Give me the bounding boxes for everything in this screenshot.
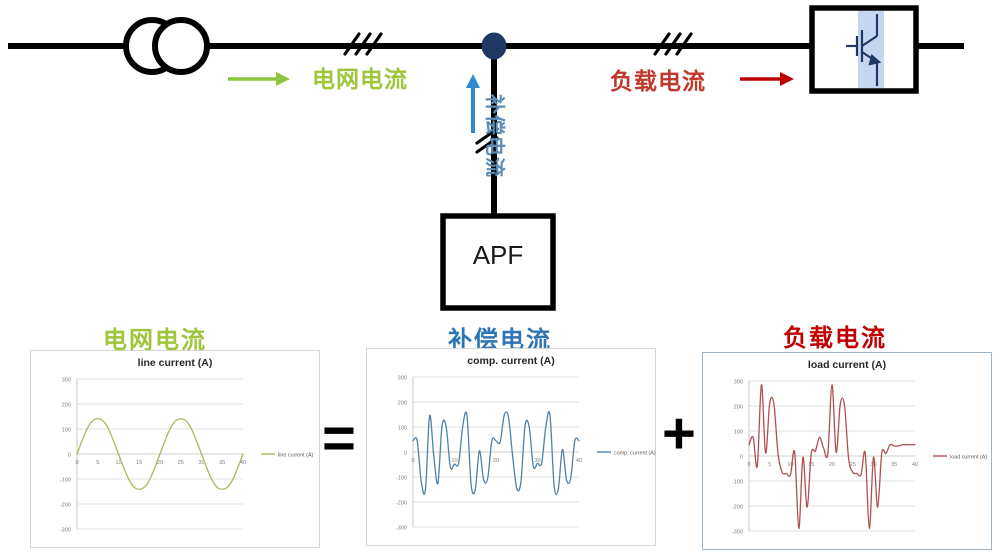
svg-text:0: 0	[404, 451, 407, 457]
ct-marks-load-icon	[655, 34, 691, 54]
svg-text:0: 0	[411, 458, 414, 464]
svg-text:5: 5	[768, 462, 771, 468]
svg-text:200: 200	[398, 401, 407, 407]
svg-text:-300: -300	[60, 528, 71, 534]
svg-text:10: 10	[451, 458, 457, 464]
svg-text:300: 300	[734, 380, 743, 386]
svg-text:line current (A): line current (A)	[278, 452, 314, 458]
svg-text:-100: -100	[60, 478, 71, 484]
equals-operator: =	[322, 410, 356, 468]
transformer-symbol	[126, 20, 207, 72]
svg-text:0: 0	[740, 455, 743, 461]
svg-text:300: 300	[398, 376, 407, 382]
plus-operator: +	[662, 405, 696, 463]
slide-canvas: 电网电流 负载电流 补偿电流 APF 电网电流 补偿电流 负载电流 line c…	[0, 0, 1000, 552]
svg-text:load current (A): load current (A)	[950, 454, 987, 460]
apf-block-label: APF	[443, 240, 553, 271]
line-current-label: 电网电流	[312, 60, 408, 94]
chart-title-comp: comp. current (A)	[367, 355, 655, 367]
svg-text:-300: -300	[396, 526, 407, 532]
comp-current-arrow-icon	[466, 74, 480, 133]
svg-text:200: 200	[734, 405, 743, 411]
svg-text:20: 20	[829, 462, 835, 468]
svg-text:200: 200	[62, 403, 71, 409]
svg-text:-300: -300	[732, 530, 743, 536]
load-current-arrow-icon	[740, 72, 794, 86]
svg-text:5: 5	[96, 460, 99, 466]
svg-text:-100: -100	[732, 480, 743, 486]
svg-text:0: 0	[747, 462, 750, 468]
svg-text:20: 20	[493, 458, 499, 464]
svg-text:-200: -200	[396, 501, 407, 507]
svg-text:0: 0	[75, 460, 78, 466]
junction-node-icon	[482, 33, 506, 59]
line-current-arrow-icon	[228, 72, 290, 86]
chart-panel-load-current: load current (A) 3002001000-100-200-3000…	[702, 352, 992, 550]
svg-text:comp. current (A): comp. current (A)	[614, 450, 656, 456]
chart-title-line: line current (A)	[31, 357, 319, 369]
chart-plot-comp: 3002001000-100-200-300010203040comp. cur…	[367, 367, 657, 543]
chart-plot-load: 3002001000-100-200-3000510152025303540lo…	[703, 371, 993, 547]
load-current-label: 负载电流	[610, 62, 706, 96]
chart-panel-comp-current: comp. current (A) 3002001000-100-200-300…	[366, 348, 656, 546]
chart-plot-line: 3002001000-100-200-3000510152025303540li…	[31, 369, 321, 545]
comp-current-label: 补偿电流	[482, 94, 511, 178]
svg-text:40: 40	[576, 458, 582, 464]
svg-text:100: 100	[62, 428, 71, 434]
svg-text:35: 35	[891, 462, 897, 468]
svg-text:25: 25	[178, 460, 184, 466]
chart-title-load: load current (A)	[703, 359, 991, 371]
svg-text:300: 300	[62, 378, 71, 384]
svg-text:-100: -100	[396, 476, 407, 482]
svg-text:100: 100	[398, 426, 407, 432]
svg-text:40: 40	[912, 462, 918, 468]
svg-text:0: 0	[68, 453, 71, 459]
svg-text:100: 100	[734, 430, 743, 436]
svg-text:35: 35	[219, 460, 225, 466]
svg-text:15: 15	[136, 460, 142, 466]
svg-text:-200: -200	[732, 505, 743, 511]
chart-panel-line-current: line current (A) 3002001000-100-200-3000…	[30, 350, 320, 548]
chart-heading-load: 负载电流	[740, 318, 930, 353]
nonlinear-load-box	[812, 8, 916, 91]
ct-marks-source-icon	[345, 34, 381, 54]
svg-text:-200: -200	[60, 503, 71, 509]
svg-text:15: 15	[808, 462, 814, 468]
